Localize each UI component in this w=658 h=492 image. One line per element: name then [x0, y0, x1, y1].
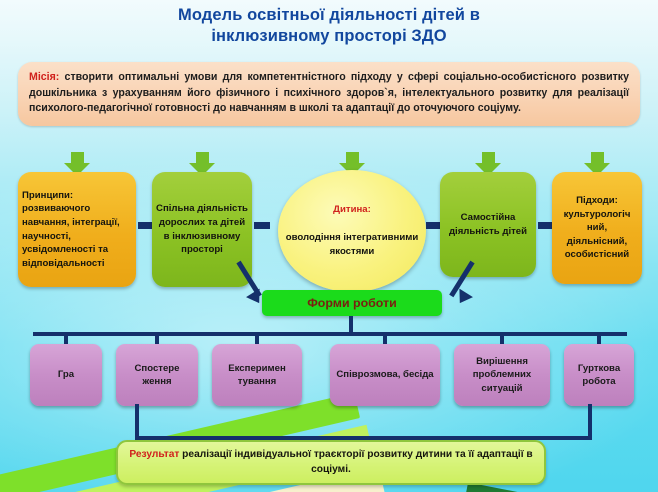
page-title: Модель освітньої діяльності дітей в інкл… [0, 5, 658, 47]
middle-box-independent-activity[interactable]: Самостійна діяльність дітей [440, 172, 536, 277]
form-box-experimentation-label: Експеримен тування [215, 362, 299, 389]
mission-text: Місія: створити оптимальні умови для ком… [29, 70, 629, 117]
mission-box: Місія: створити оптимальні умови для ком… [18, 62, 640, 126]
mission-keyword: Місія: [29, 71, 59, 83]
form-box-problem-solving[interactable]: Вирішення проблемних ситуацій [454, 344, 550, 406]
result-keyword: Результат [129, 449, 179, 460]
form-box-game-label: Гра [58, 368, 74, 381]
form-box-problem-solving-label: Вирішення проблемних ситуацій [457, 355, 547, 395]
connector-nub-1 [138, 222, 152, 229]
form-box-experimentation[interactable]: Експеримен тування [212, 344, 302, 406]
connector-rail-right [588, 404, 592, 438]
form-box-conversation[interactable]: Співрозмова, бесіда [330, 344, 440, 406]
forms-banner-label: Форми роботи [307, 296, 397, 310]
middle-box-approaches[interactable]: Підходи: культурологіч ний, діяльнісний,… [552, 172, 642, 284]
forms-banner[interactable]: Форми роботи [262, 290, 442, 316]
middle-box-principles[interactable]: Принципи: розвиваючого навчання, інтегра… [18, 172, 136, 287]
form-box-conversation-label: Співрозмова, бесіда [336, 368, 433, 381]
page-title-line2: інклюзивному просторі ЗДО [0, 26, 658, 47]
slide-canvas: Модель освітньої діяльності дітей в інкл… [0, 0, 658, 492]
center-oval-child[interactable]: Дитина:оволодіння інтегративними якостям… [278, 170, 426, 292]
form-box-club-work-label: Гурткова робота [567, 362, 631, 389]
result-body: реалізації індивідуальної траєкторії роз… [179, 449, 532, 475]
result-box: Результат реалізації індивідуальної трає… [116, 440, 546, 485]
middle-box-principles-label: Принципи: розвиваючого навчання, інтегра… [22, 189, 132, 271]
page-title-line1: Модель освітньої діяльності дітей в [0, 5, 658, 26]
center-oval-body: оволодіння інтегративними якостями [278, 231, 426, 259]
result-text: Результат реалізації індивідуальної трає… [128, 448, 534, 477]
form-box-observation-label: Спостере ження [119, 362, 195, 389]
form-box-club-work[interactable]: Гурткова робота [564, 344, 634, 406]
mission-body: створити оптимальні умови для компетентн… [29, 71, 629, 114]
connector-nub-4 [538, 222, 552, 229]
connector-nub-2 [254, 222, 270, 229]
center-oval-keyword: Дитина: [278, 203, 426, 217]
middle-box-joint-activity-label: Спільна діяльність дорослих та дітей в і… [156, 202, 248, 256]
form-box-game[interactable]: Гра [30, 344, 102, 406]
connector-rail-left [135, 404, 139, 438]
middle-box-independent-activity-label: Самостійна діяльність дітей [444, 211, 532, 238]
connector-bus-line [33, 332, 627, 336]
form-box-observation[interactable]: Спостере ження [116, 344, 198, 406]
middle-box-approaches-label: Підходи: культурологіч ний, діяльнісний,… [556, 194, 638, 262]
center-oval-text: Дитина:оволодіння інтегративними якостям… [278, 203, 426, 259]
middle-box-joint-activity[interactable]: Спільна діяльність дорослих та дітей в і… [152, 172, 252, 287]
